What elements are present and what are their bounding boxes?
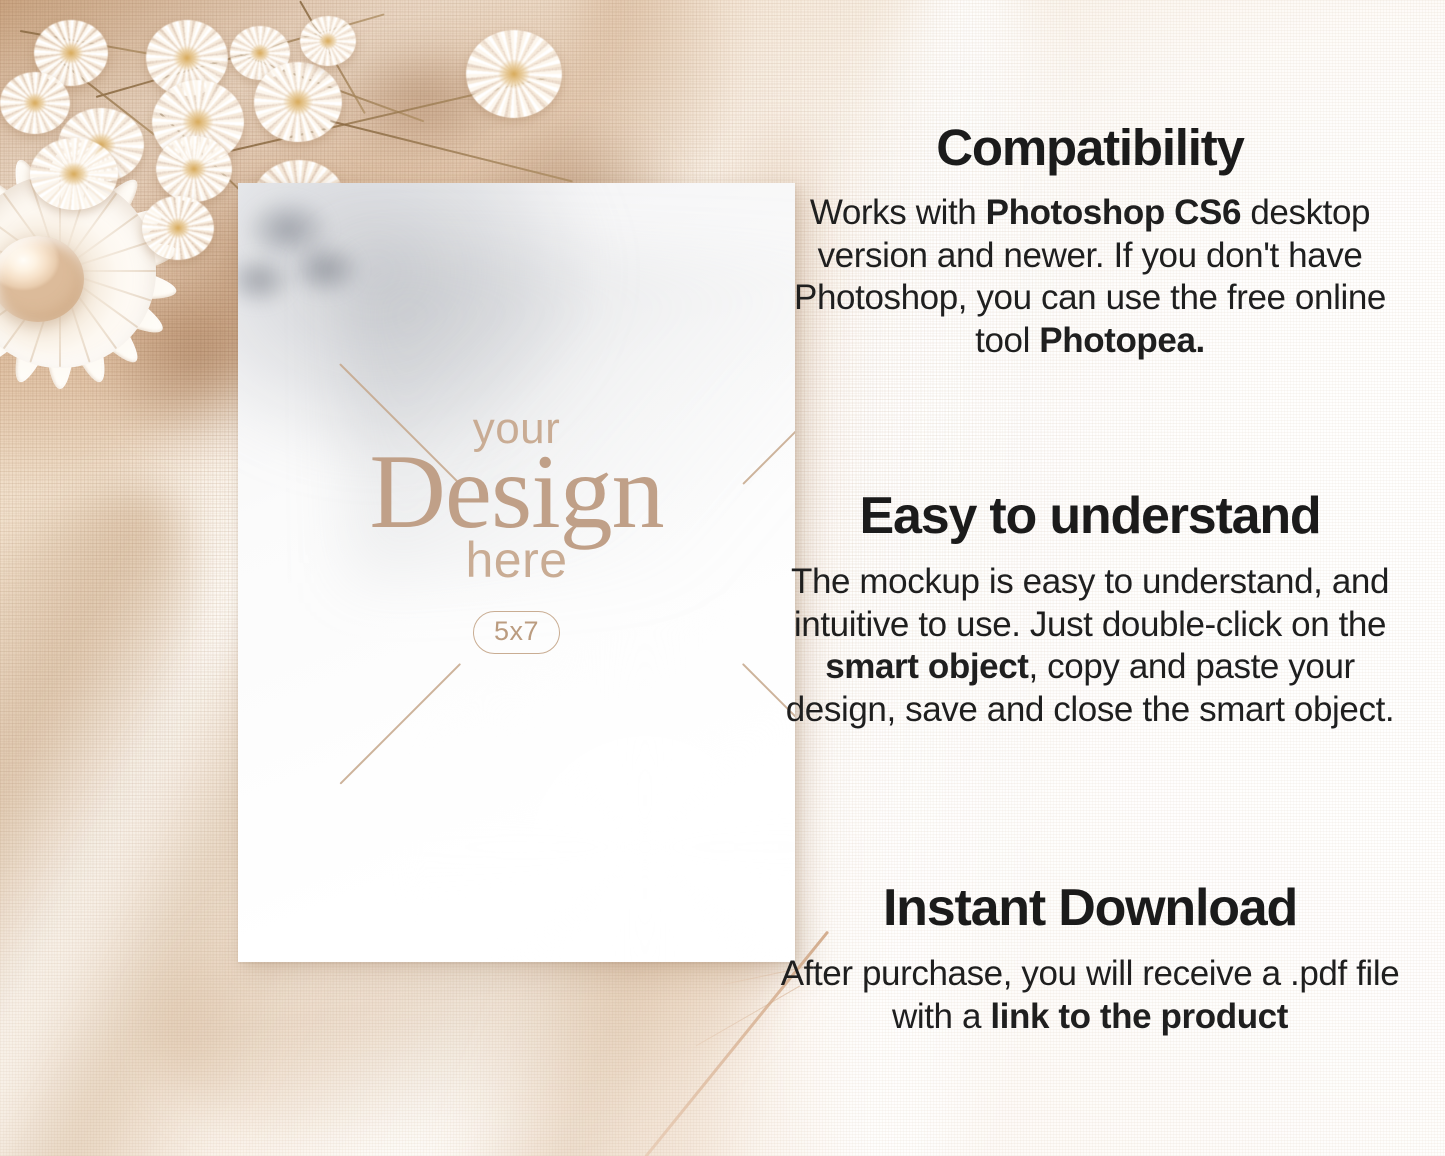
- dried-flower: [30, 138, 118, 210]
- section-compatibility: Compatibility Works with Photoshop CS6 d…: [770, 122, 1410, 363]
- section-body: Works with Photoshop CS6 desktop version…: [770, 192, 1410, 363]
- size-badge: 5x7: [473, 611, 560, 654]
- flower-shadow-on-card: [288, 241, 362, 297]
- section-instant-download: Instant Download After purchase, you wil…: [770, 882, 1410, 1038]
- dried-flower: [300, 16, 356, 66]
- section-body: After purchase, you will receive a .pdf …: [770, 953, 1410, 1038]
- mockup-listing-image: your Design here 5x7 Compatibility Works…: [0, 0, 1445, 1156]
- placeholder-line-here: here: [238, 535, 795, 585]
- dried-flower: [254, 62, 342, 142]
- section-body: The mockup is easy to understand, and in…: [770, 561, 1410, 732]
- section-heading: Instant Download: [770, 882, 1410, 935]
- card-highlight: [405, 612, 795, 962]
- section-heading: Easy to understand: [770, 490, 1410, 543]
- design-placeholder-block: your Design here 5x7: [238, 407, 795, 654]
- section-heading: Compatibility: [770, 122, 1410, 174]
- section-easy-to-understand: Easy to understand The mockup is easy to…: [770, 490, 1410, 732]
- feature-copy-column: Compatibility Works with Photoshop CS6 d…: [770, 0, 1410, 1156]
- placeholder-line-design: Design: [238, 441, 795, 543]
- dried-flower: [142, 196, 214, 260]
- dried-flower: [0, 72, 70, 134]
- dried-flower: [156, 136, 232, 202]
- dried-flower: [466, 30, 562, 118]
- poster-mockup-card[interactable]: your Design here 5x7: [238, 183, 795, 962]
